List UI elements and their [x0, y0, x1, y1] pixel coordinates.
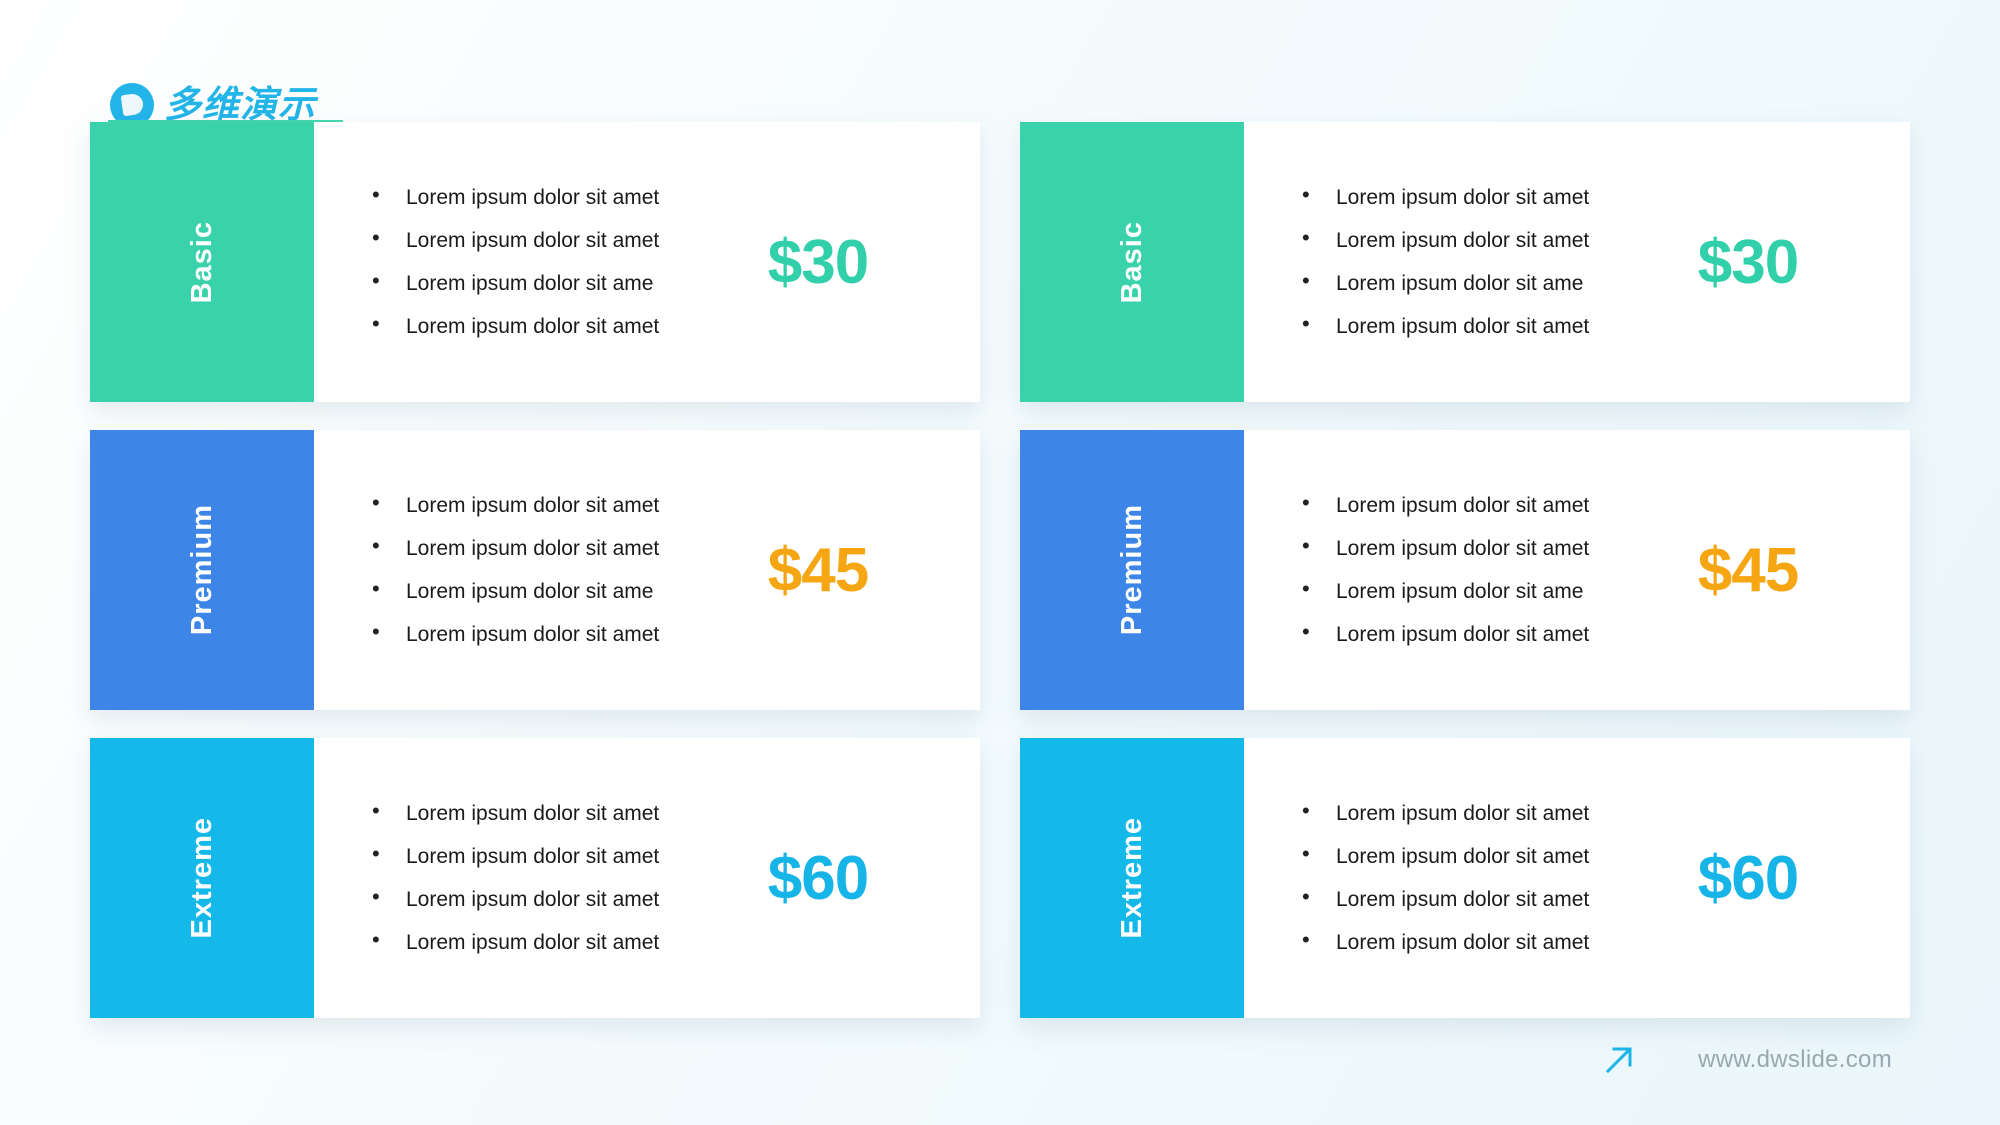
pricing-card-feature-item: Lorem ipsum dolor sit amet [372, 538, 690, 559]
pricing-card-tier-banner: Premium [90, 430, 314, 710]
pricing-card[interactable]: PremiumLorem ipsum dolor sit ametLorem i… [1020, 430, 1910, 710]
pricing-card-tier-label: Premium [1116, 504, 1149, 635]
pricing-card-body: Lorem ipsum dolor sit ametLorem ipsum do… [1244, 122, 1910, 402]
pricing-card-feature-item: Lorem ipsum dolor sit amet [1302, 230, 1620, 251]
pricing-card-feature-item: Lorem ipsum dolor sit ame [372, 581, 690, 602]
pricing-card-feature-item: Lorem ipsum dolor sit amet [372, 187, 690, 208]
pricing-card-feature-list: Lorem ipsum dolor sit ametLorem ipsum do… [372, 781, 690, 975]
arrow-up-right-icon [1602, 1043, 1636, 1077]
pricing-card-price: $45 [1620, 535, 1910, 606]
pricing-card-feature-list: Lorem ipsum dolor sit ametLorem ipsum do… [1302, 781, 1620, 975]
pricing-card[interactable]: BasicLorem ipsum dolor sit ametLorem ips… [1020, 122, 1910, 402]
pricing-card-body: Lorem ipsum dolor sit ametLorem ipsum do… [314, 430, 980, 710]
pricing-card-tier-banner: Basic [90, 122, 314, 402]
pricing-card-feature-item: Lorem ipsum dolor sit amet [1302, 187, 1620, 208]
pricing-card-feature-item: Lorem ipsum dolor sit amet [372, 495, 690, 516]
pricing-card-tier-label: Extreme [186, 817, 219, 938]
pricing-card-body: Lorem ipsum dolor sit ametLorem ipsum do… [314, 122, 980, 402]
pricing-board: BasicLorem ipsum dolor sit ametLorem ips… [90, 122, 1910, 1018]
pricing-card-feature-list: Lorem ipsum dolor sit ametLorem ipsum do… [1302, 165, 1620, 359]
pricing-card-feature-item: Lorem ipsum dolor sit amet [1302, 803, 1620, 824]
pricing-card-feature-list: Lorem ipsum dolor sit ametLorem ipsum do… [1302, 473, 1620, 667]
pricing-card-tier-banner: Basic [1020, 122, 1244, 402]
pricing-card-feature-item: Lorem ipsum dolor sit amet [1302, 889, 1620, 910]
pricing-card-feature-item: Lorem ipsum dolor sit amet [1302, 538, 1620, 559]
pricing-card-tier-banner: Premium [1020, 430, 1244, 710]
pricing-card-feature-item: Lorem ipsum dolor sit amet [1302, 932, 1620, 953]
pricing-card-feature-item: Lorem ipsum dolor sit amet [1302, 495, 1620, 516]
pricing-card-tier-banner: Extreme [1020, 738, 1244, 1018]
pricing-card-price: $30 [1620, 227, 1910, 298]
pricing-card-price: $60 [690, 843, 980, 914]
pricing-card[interactable]: PremiumLorem ipsum dolor sit ametLorem i… [90, 430, 980, 710]
pricing-card-feature-item: Lorem ipsum dolor sit amet [372, 846, 690, 867]
pricing-card-price: $30 [690, 227, 980, 298]
pricing-card-feature-item: Lorem ipsum dolor sit ame [1302, 273, 1620, 294]
pricing-card-tier-label: Premium [186, 504, 219, 635]
pricing-card-feature-item: Lorem ipsum dolor sit amet [372, 889, 690, 910]
pricing-card-feature-item: Lorem ipsum dolor sit ame [372, 273, 690, 294]
footer: www.dwslide.com [1602, 1043, 1892, 1077]
pricing-card-price: $60 [1620, 843, 1910, 914]
pricing-card-tier-label: Basic [1116, 221, 1149, 303]
pricing-card-feature-item: Lorem ipsum dolor sit amet [372, 316, 690, 337]
pricing-card-price: $45 [690, 535, 980, 606]
pricing-card-feature-item: Lorem ipsum dolor sit ame [1302, 581, 1620, 602]
pricing-card-body: Lorem ipsum dolor sit ametLorem ipsum do… [314, 738, 980, 1018]
pricing-card-feature-item: Lorem ipsum dolor sit amet [372, 230, 690, 251]
pricing-card-feature-item: Lorem ipsum dolor sit amet [1302, 624, 1620, 645]
pricing-card-tier-label: Basic [186, 221, 219, 303]
pricing-card-body: Lorem ipsum dolor sit ametLorem ipsum do… [1244, 430, 1910, 710]
pricing-card-feature-item: Lorem ipsum dolor sit amet [1302, 846, 1620, 867]
pricing-card-feature-item: Lorem ipsum dolor sit amet [372, 624, 690, 645]
pricing-card-feature-list: Lorem ipsum dolor sit ametLorem ipsum do… [372, 165, 690, 359]
pricing-card-feature-list: Lorem ipsum dolor sit ametLorem ipsum do… [372, 473, 690, 667]
pricing-card[interactable]: ExtremeLorem ipsum dolor sit ametLorem i… [1020, 738, 1910, 1018]
pricing-card-feature-item: Lorem ipsum dolor sit amet [372, 932, 690, 953]
pricing-card[interactable]: ExtremeLorem ipsum dolor sit ametLorem i… [90, 738, 980, 1018]
pricing-card-feature-item: Lorem ipsum dolor sit amet [1302, 316, 1620, 337]
pricing-card[interactable]: BasicLorem ipsum dolor sit ametLorem ips… [90, 122, 980, 402]
pricing-card-tier-banner: Extreme [90, 738, 314, 1018]
footer-url: www.dwslide.com [1698, 1046, 1892, 1074]
pricing-card-body: Lorem ipsum dolor sit ametLorem ipsum do… [1244, 738, 1910, 1018]
pricing-card-feature-item: Lorem ipsum dolor sit amet [372, 803, 690, 824]
pricing-card-tier-label: Extreme [1116, 817, 1149, 938]
